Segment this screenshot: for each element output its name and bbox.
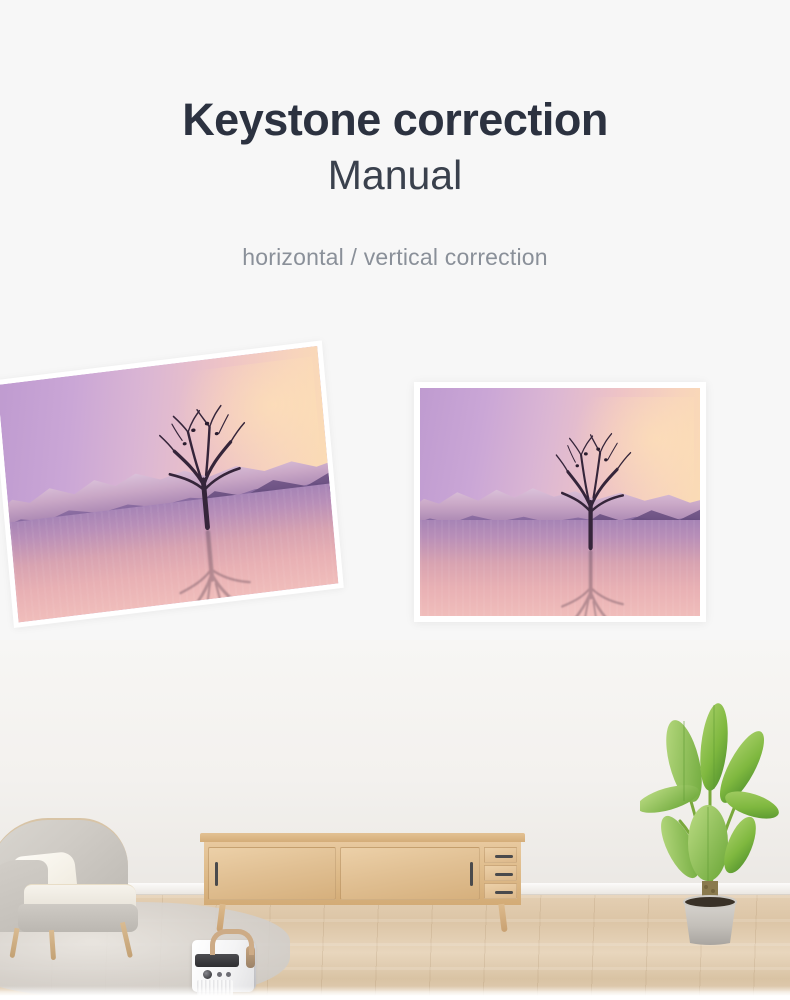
corrected-photo-frame (420, 388, 700, 616)
door-handle-icon (470, 862, 473, 886)
potted-plant (640, 695, 780, 945)
credenza-leg (216, 904, 225, 933)
drawer (484, 883, 517, 899)
drawer-handle-icon (495, 855, 513, 858)
portable-projector (192, 930, 262, 992)
keystone-demo (0, 370, 790, 640)
projector-front-panel (195, 954, 239, 967)
distorted-projection (0, 340, 344, 628)
drawer-handle-icon (495, 873, 513, 876)
door-handle-icon (215, 862, 218, 886)
page-subtitle: Manual (0, 150, 790, 201)
bottom-fade (0, 986, 790, 1000)
armchair (0, 818, 148, 958)
headings-block: Keystone correction Manual horizontal / … (0, 0, 790, 271)
tree-reflection (543, 552, 638, 616)
corrected-projection (414, 382, 706, 622)
drawer-handle-icon (495, 891, 513, 894)
chair-seat (18, 904, 138, 932)
lens-icon (203, 970, 212, 979)
tv-credenza (200, 833, 525, 933)
credenza-body (204, 842, 521, 905)
credenza-door-left (208, 847, 336, 900)
projector-handle (210, 929, 254, 955)
credenza-drawers (484, 847, 517, 900)
page-title: Keystone correction (0, 96, 790, 143)
credenza-leg (498, 904, 507, 933)
lake-tree-photo-corrected (420, 388, 700, 616)
distorted-photo-frame (0, 346, 338, 623)
wanaka-tree (543, 429, 638, 548)
drawer (484, 847, 517, 863)
credenza-door-right (340, 847, 480, 900)
product-feature-slide: Keystone correction Manual horizontal / … (0, 0, 790, 1000)
living-room-scene (0, 640, 790, 1000)
chair-leg (9, 928, 19, 958)
tree-reflection (153, 526, 273, 623)
drawer (484, 865, 517, 881)
credenza-top (200, 833, 525, 842)
lake-tree-photo-distorted (0, 346, 338, 623)
chair-leg (49, 930, 56, 960)
wanaka-tree (142, 397, 262, 534)
page-tagline: horizontal / vertical correction (0, 244, 790, 271)
sensor-icon (217, 972, 222, 977)
sensor-icon (226, 972, 231, 977)
